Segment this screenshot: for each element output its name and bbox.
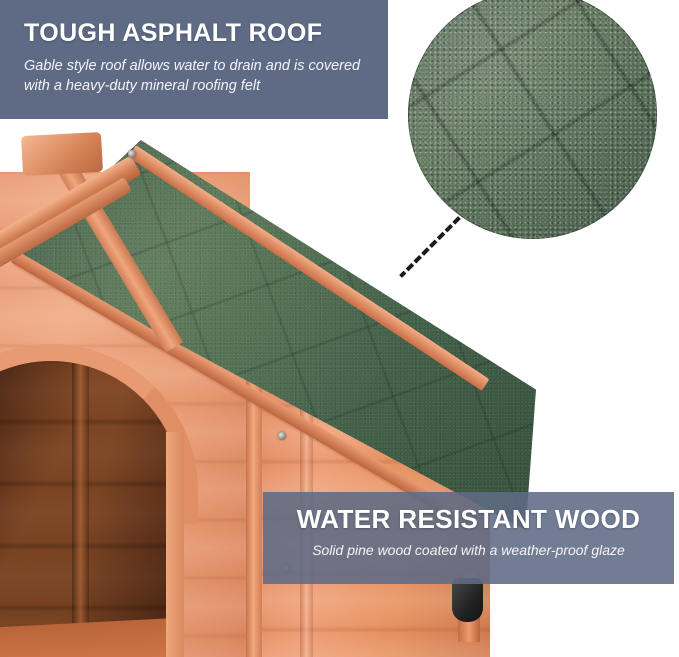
doghouse-rubber-foot <box>452 578 483 622</box>
screw-head-icon <box>128 150 136 158</box>
callout-water-resistant-wood: WATER RESISTANT WOOD Solid pine wood coa… <box>263 492 674 584</box>
callout-description: Gable style roof allows water to drain a… <box>24 56 364 97</box>
doghouse-door-jamb <box>166 432 184 657</box>
callout-tough-asphalt-roof: TOUGH ASPHALT ROOF Gable style roof allo… <box>0 0 388 119</box>
doghouse-ridge-cap <box>21 132 103 176</box>
screw-head-icon <box>278 432 286 440</box>
infographic-canvas: TOUGH ASPHALT ROOF Gable style roof allo… <box>0 0 679 657</box>
roof-shingle-closeup-circle <box>408 0 657 239</box>
callout-title: WATER RESISTANT WOOD <box>279 505 658 534</box>
shingle-granule-texture <box>408 0 657 239</box>
callout-title: TOUGH ASPHALT ROOF <box>24 20 364 48</box>
callout-description: Solid pine wood coated with a weather-pr… <box>279 541 658 561</box>
